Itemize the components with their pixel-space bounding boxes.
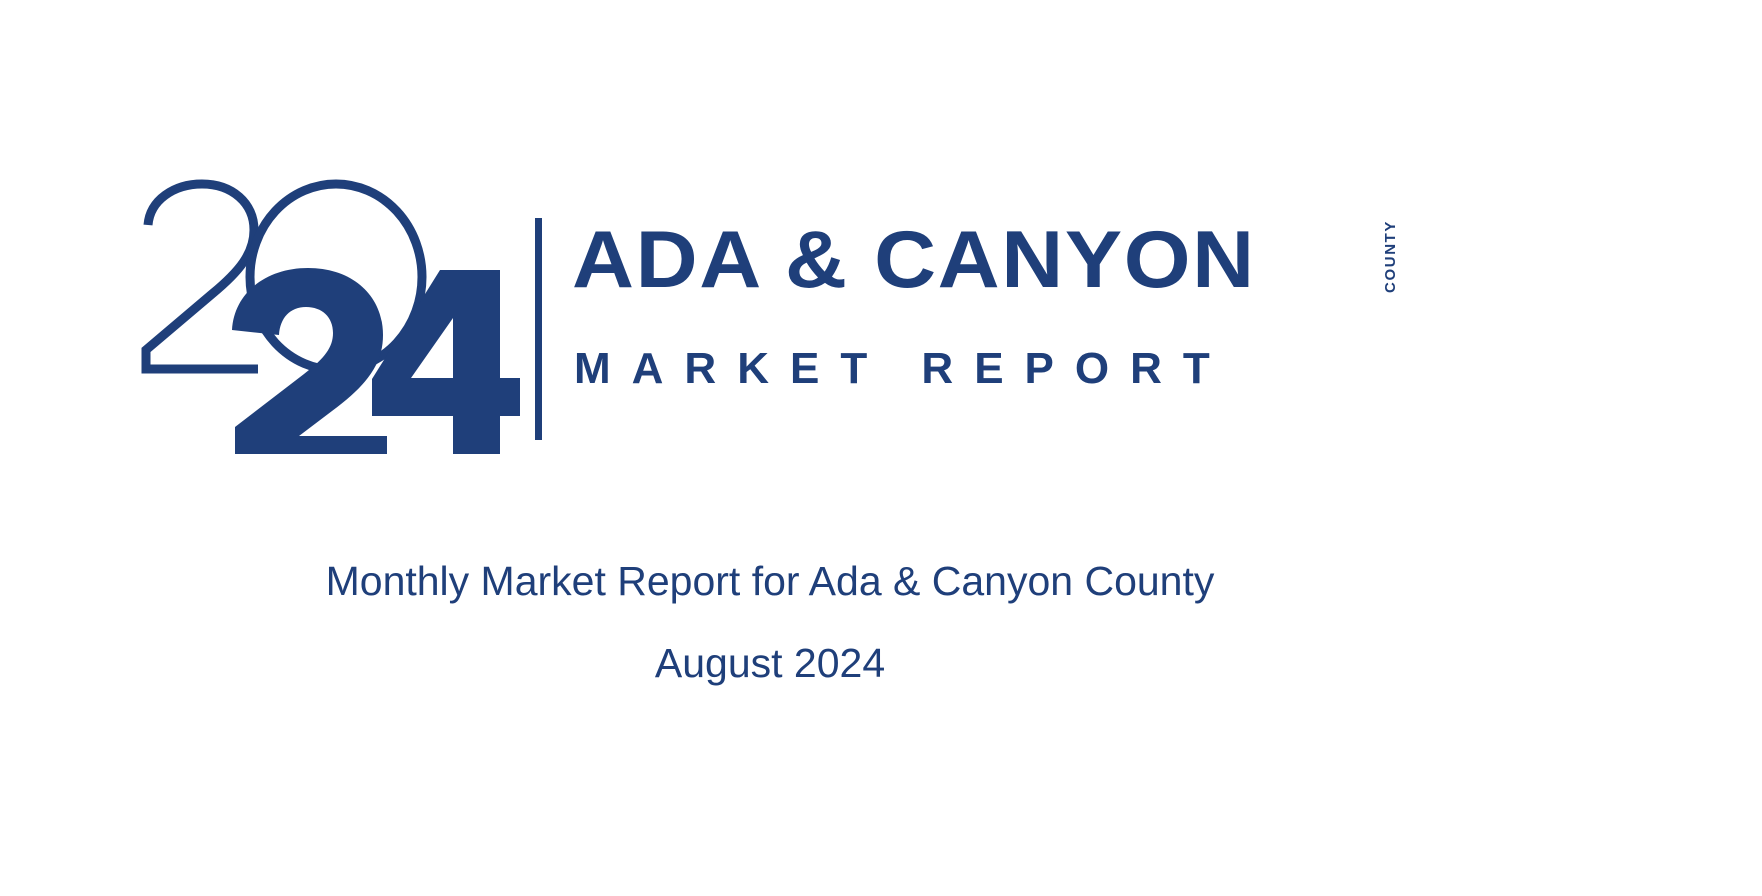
brand-logo-lockup: ADA & CANYON COUNTY MARKET REPORT [140,178,1430,460]
wordmark-primary-text: ADA & CANYON [572,214,1256,306]
logo-divider-rule [535,218,542,440]
solid-24-glyph [232,268,520,454]
cover-caption-block: Monthly Market Report for Ada & Canyon C… [0,548,1540,696]
report-cover-page: ADA & CANYON COUNTY MARKET REPORT Monthl… [0,0,1762,896]
wordmark-secondary-text: MARKET REPORT [574,344,1231,394]
wordmark-top-row: ADA & CANYON COUNTY [572,214,1432,326]
report-subtitle: Monthly Market Report for Ada & Canyon C… [0,548,1540,614]
logo-wordmark: ADA & CANYON COUNTY MARKET REPORT [572,214,1432,440]
report-date: August 2024 [0,630,1540,696]
wordmark-county-superscript: COUNTY [1382,220,1399,293]
year-2024-mark [140,178,520,460]
